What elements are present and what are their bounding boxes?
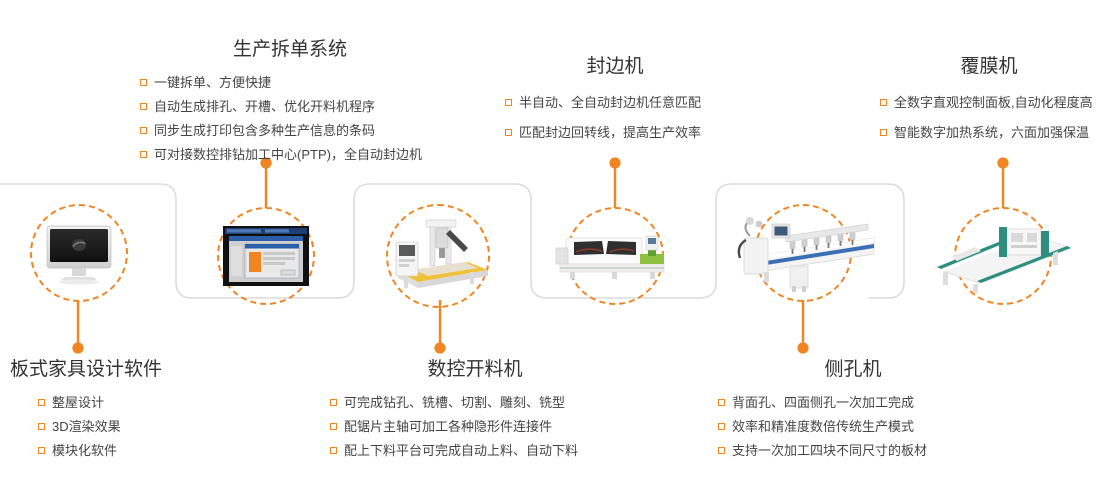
bullet-marker-icon (140, 103, 147, 110)
text-block-side-hole: 侧孔机 背面孔、四面侧孔一次加工完成 效率和精准度数倍传统生产模式 支持一次加工… (718, 358, 988, 463)
node-design-software[interactable] (30, 204, 128, 302)
software-screen-icon (223, 226, 309, 286)
bullet-text: 智能数字加热系统，六面加强保温 (894, 118, 1089, 148)
bullet-item: 效率和精准度数倍传统生产模式 (718, 415, 988, 439)
bullet-item: 同步生成打印包含多种生产信息的条码 (140, 119, 440, 143)
bullet-marker-icon (140, 127, 147, 134)
block-title: 覆膜机 (880, 55, 1098, 79)
bullet-item: 配锯片主轴可加工各种隐形件连接件 (330, 415, 620, 439)
bullet-list: 整屋设计 3D渲染效果 模块化软件 (10, 391, 162, 463)
block-title: 生产拆单系统 (140, 38, 440, 62)
cnc-router-icon (384, 214, 492, 298)
node-laminating[interactable] (954, 207, 1052, 305)
bullet-list: 可完成钻孔、铣槽、切割、雕刻、铣型 配锯片主轴可加工各种隐形件连接件 配上下料平… (330, 391, 620, 463)
bullet-text: 支持一次加工四块不同尺寸的板材 (732, 439, 927, 463)
bullet-item: 可对接数控排钻加工中心(PTP)，全自动封边机 (140, 143, 440, 167)
bullet-item: 配上下料平台可完成自动上料、自动下料 (330, 439, 620, 463)
bullet-text: 同步生成打印包含多种生产信息的条码 (154, 119, 375, 143)
bullet-text: 配锯片主轴可加工各种隐形件连接件 (344, 415, 552, 439)
bullet-item: 模块化软件 (10, 439, 162, 463)
bullet-item: 一键拆单、方便快捷 (140, 71, 440, 95)
bullet-item: 全数字直观控制面板,自动化程度高 (880, 88, 1098, 118)
block-title: 数控开料机 (330, 358, 620, 382)
bullet-text: 3D渲染效果 (52, 415, 121, 439)
bullet-marker-icon (38, 399, 45, 406)
bullet-marker-icon (880, 99, 887, 106)
node-cnc-cutting[interactable] (386, 204, 490, 308)
bullet-item: 自动生成排孔、开槽、优化开料机程序 (140, 95, 440, 119)
bullet-item: 3D渲染效果 (10, 415, 162, 439)
text-block-laminating: 覆膜机 全数字直观控制面板,自动化程度高 智能数字加热系统，六面加强保温 (880, 55, 1098, 148)
text-block-edge-banding: 封边机 半自动、全自动封边机任意匹配 匹配封边回转线，提高生产效率 (505, 55, 725, 148)
node-order-splitting[interactable] (217, 207, 315, 305)
bullet-text: 半自动、全自动封边机任意匹配 (519, 88, 701, 118)
infographic-canvas: 板式家具设计软件 整屋设计 3D渲染效果 模块化软件 生产拆单系统 一键拆单、方… (0, 0, 1100, 495)
bullet-marker-icon (880, 129, 887, 136)
bullet-item: 支持一次加工四块不同尺寸的板材 (718, 439, 988, 463)
bullet-marker-icon (330, 447, 337, 454)
bullet-text: 自动生成排孔、开槽、优化开料机程序 (154, 95, 375, 119)
bullet-item: 匹配封边回转线，提高生产效率 (505, 118, 725, 148)
bullet-marker-icon (718, 399, 725, 406)
bullet-item: 背面孔、四面侧孔一次加工完成 (718, 391, 988, 415)
bullet-item: 整屋设计 (10, 391, 162, 415)
laminating-machine-icon (929, 217, 1077, 295)
bullet-marker-icon (140, 151, 147, 158)
bullet-text: 背面孔、四面侧孔一次加工完成 (732, 391, 914, 415)
bullet-text: 效率和精准度数倍传统生产模式 (732, 415, 914, 439)
bullet-list: 全数字直观控制面板,自动化程度高 智能数字加热系统，六面加强保温 (880, 88, 1098, 148)
bullet-text: 配上下料平台可完成自动上料、自动下料 (344, 439, 578, 463)
bullet-text: 一键拆单、方便快捷 (154, 71, 271, 95)
bullet-marker-icon (330, 399, 337, 406)
bullet-list: 半自动、全自动封边机任意匹配 匹配封边回转线，提高生产效率 (505, 88, 725, 148)
bullet-text: 可完成钻孔、铣槽、切割、雕刻、铣型 (344, 391, 565, 415)
bullet-item: 可完成钻孔、铣槽、切割、雕刻、铣型 (330, 391, 620, 415)
bullet-item: 智能数字加热系统，六面加强保温 (880, 118, 1098, 148)
bullet-text: 可对接数控排钻加工中心(PTP)，全自动封边机 (154, 143, 422, 167)
bullet-marker-icon (718, 447, 725, 454)
bullet-item: 半自动、全自动封边机任意匹配 (505, 88, 725, 118)
bullet-marker-icon (505, 129, 512, 136)
bullet-text: 全数字直观控制面板,自动化程度高 (894, 88, 1093, 118)
text-block-order-splitting: 生产拆单系统 一键拆单、方便快捷 自动生成排孔、开槽、优化开料机程序 同步生成打… (140, 38, 440, 167)
bullet-marker-icon (140, 79, 147, 86)
block-title: 封边机 (505, 55, 725, 79)
block-title: 板式家具设计软件 (10, 358, 162, 382)
bullet-marker-icon (505, 99, 512, 106)
bullet-marker-icon (330, 423, 337, 430)
bullet-marker-icon (38, 423, 45, 430)
bullet-list: 一键拆单、方便快捷 自动生成排孔、开槽、优化开料机程序 同步生成打印包含多种生产… (140, 71, 440, 167)
bullet-marker-icon (718, 423, 725, 430)
node-edge-banding[interactable] (566, 207, 664, 305)
bullet-marker-icon (38, 447, 45, 454)
imac-monitor-icon (37, 220, 121, 286)
text-block-cnc-cutting: 数控开料机 可完成钻孔、铣槽、切割、雕刻、铣型 配锯片主轴可加工各种隐形件连接件… (330, 358, 620, 463)
block-title: 侧孔机 (718, 358, 988, 382)
bullet-text: 匹配封边回转线，提高生产效率 (519, 118, 701, 148)
bullet-list: 背面孔、四面侧孔一次加工完成 效率和精准度数倍传统生产模式 支持一次加工四块不同… (718, 391, 988, 463)
node-side-hole[interactable] (754, 204, 852, 302)
bullet-text: 整屋设计 (52, 391, 104, 415)
side-drilling-machine-icon (728, 210, 878, 296)
text-block-design-software: 板式家具设计软件 整屋设计 3D渲染效果 模块化软件 (10, 358, 162, 463)
bullet-text: 模块化软件 (52, 439, 117, 463)
edge-banding-machine-icon (552, 226, 678, 286)
